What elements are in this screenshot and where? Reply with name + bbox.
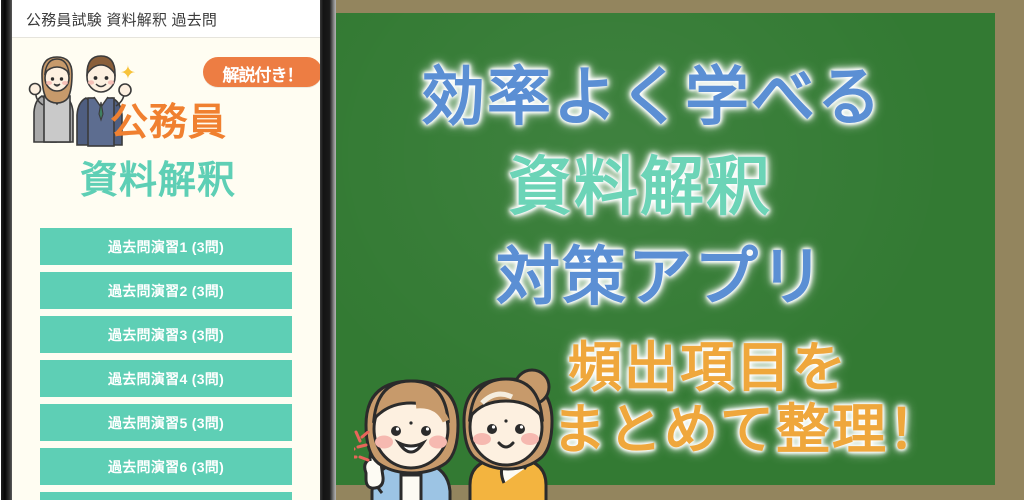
question-button-label: 過去問演習5 (3問) (40, 413, 292, 433)
hero-title-sub: 資料解釈 (80, 162, 236, 200)
headline-line-3: 対策アプリ (496, 245, 826, 309)
question-button-3[interactable]: 過去問演習3 (3問) (40, 316, 292, 353)
headline-line-2: 資料解釈 (508, 155, 772, 219)
headline-line-1: 効率よく学べる (421, 65, 883, 129)
hero-title-main: 公務員 (110, 104, 227, 142)
app-title: 公務員試験 資料解釈 過去問 (26, 9, 217, 30)
question-button-label: 過去問演習3 (3問) (40, 325, 292, 345)
phone-screen: 公務員試験 資料解釈 過去問 (12, 0, 320, 500)
question-button-list: 過去問演習1 (3問) 過去問演習2 (3問) 過去問演習3 (3問) 過去問演… (12, 228, 320, 500)
subline-line-2: まとめて整理！ (552, 403, 944, 457)
explanation-badge-label: 解説付き！ (203, 61, 320, 86)
question-button-label: 過去問演習2 (3問) (40, 281, 292, 301)
question-button-label: 過去問演習6 (3問) (40, 457, 292, 477)
question-button-6[interactable]: 過去問演習6 (3問) (40, 448, 292, 485)
screenshot-root: 公務員試験 資料解釈 過去問 (0, 0, 1024, 500)
question-button-5[interactable]: 過去問演習5 (3問) (40, 404, 292, 441)
question-button-label: 過去問演習1 (3問) (40, 237, 292, 257)
phone-screenshot-pane: 公務員試験 資料解釈 過去問 (0, 0, 336, 500)
question-button-4[interactable]: 過去問演習4 (3問) (40, 360, 292, 397)
question-button-label: 過去問演習4 (3問) (40, 369, 292, 389)
question-button-2[interactable]: 過去問演習2 (3問) (40, 272, 292, 309)
emphasis-lines-icon (338, 431, 372, 467)
subline-line-1: 頻出項目を (568, 341, 848, 395)
promo-banner-pane: 効率よく学べる 資料解釈 対策アプリ 頻出項目を まとめて整理！ (336, 0, 1024, 500)
question-button-7[interactable]: 過去問演習7 (3問) (40, 492, 292, 500)
phone-bezel-right (320, 0, 336, 500)
phone-bezel-left (1, 0, 12, 500)
sparkle-icon: ✦ (120, 62, 136, 85)
explanation-badge: 解説付き！ (203, 57, 320, 87)
chalkboard: 効率よく学べる 資料解釈 対策アプリ 頻出項目を まとめて整理！ (336, 13, 995, 485)
app-header: 公務員試験 資料解釈 過去問 (12, 0, 320, 38)
two-students-illustration (354, 365, 584, 500)
question-button-1[interactable]: 過去問演習1 (3問) (40, 228, 292, 265)
